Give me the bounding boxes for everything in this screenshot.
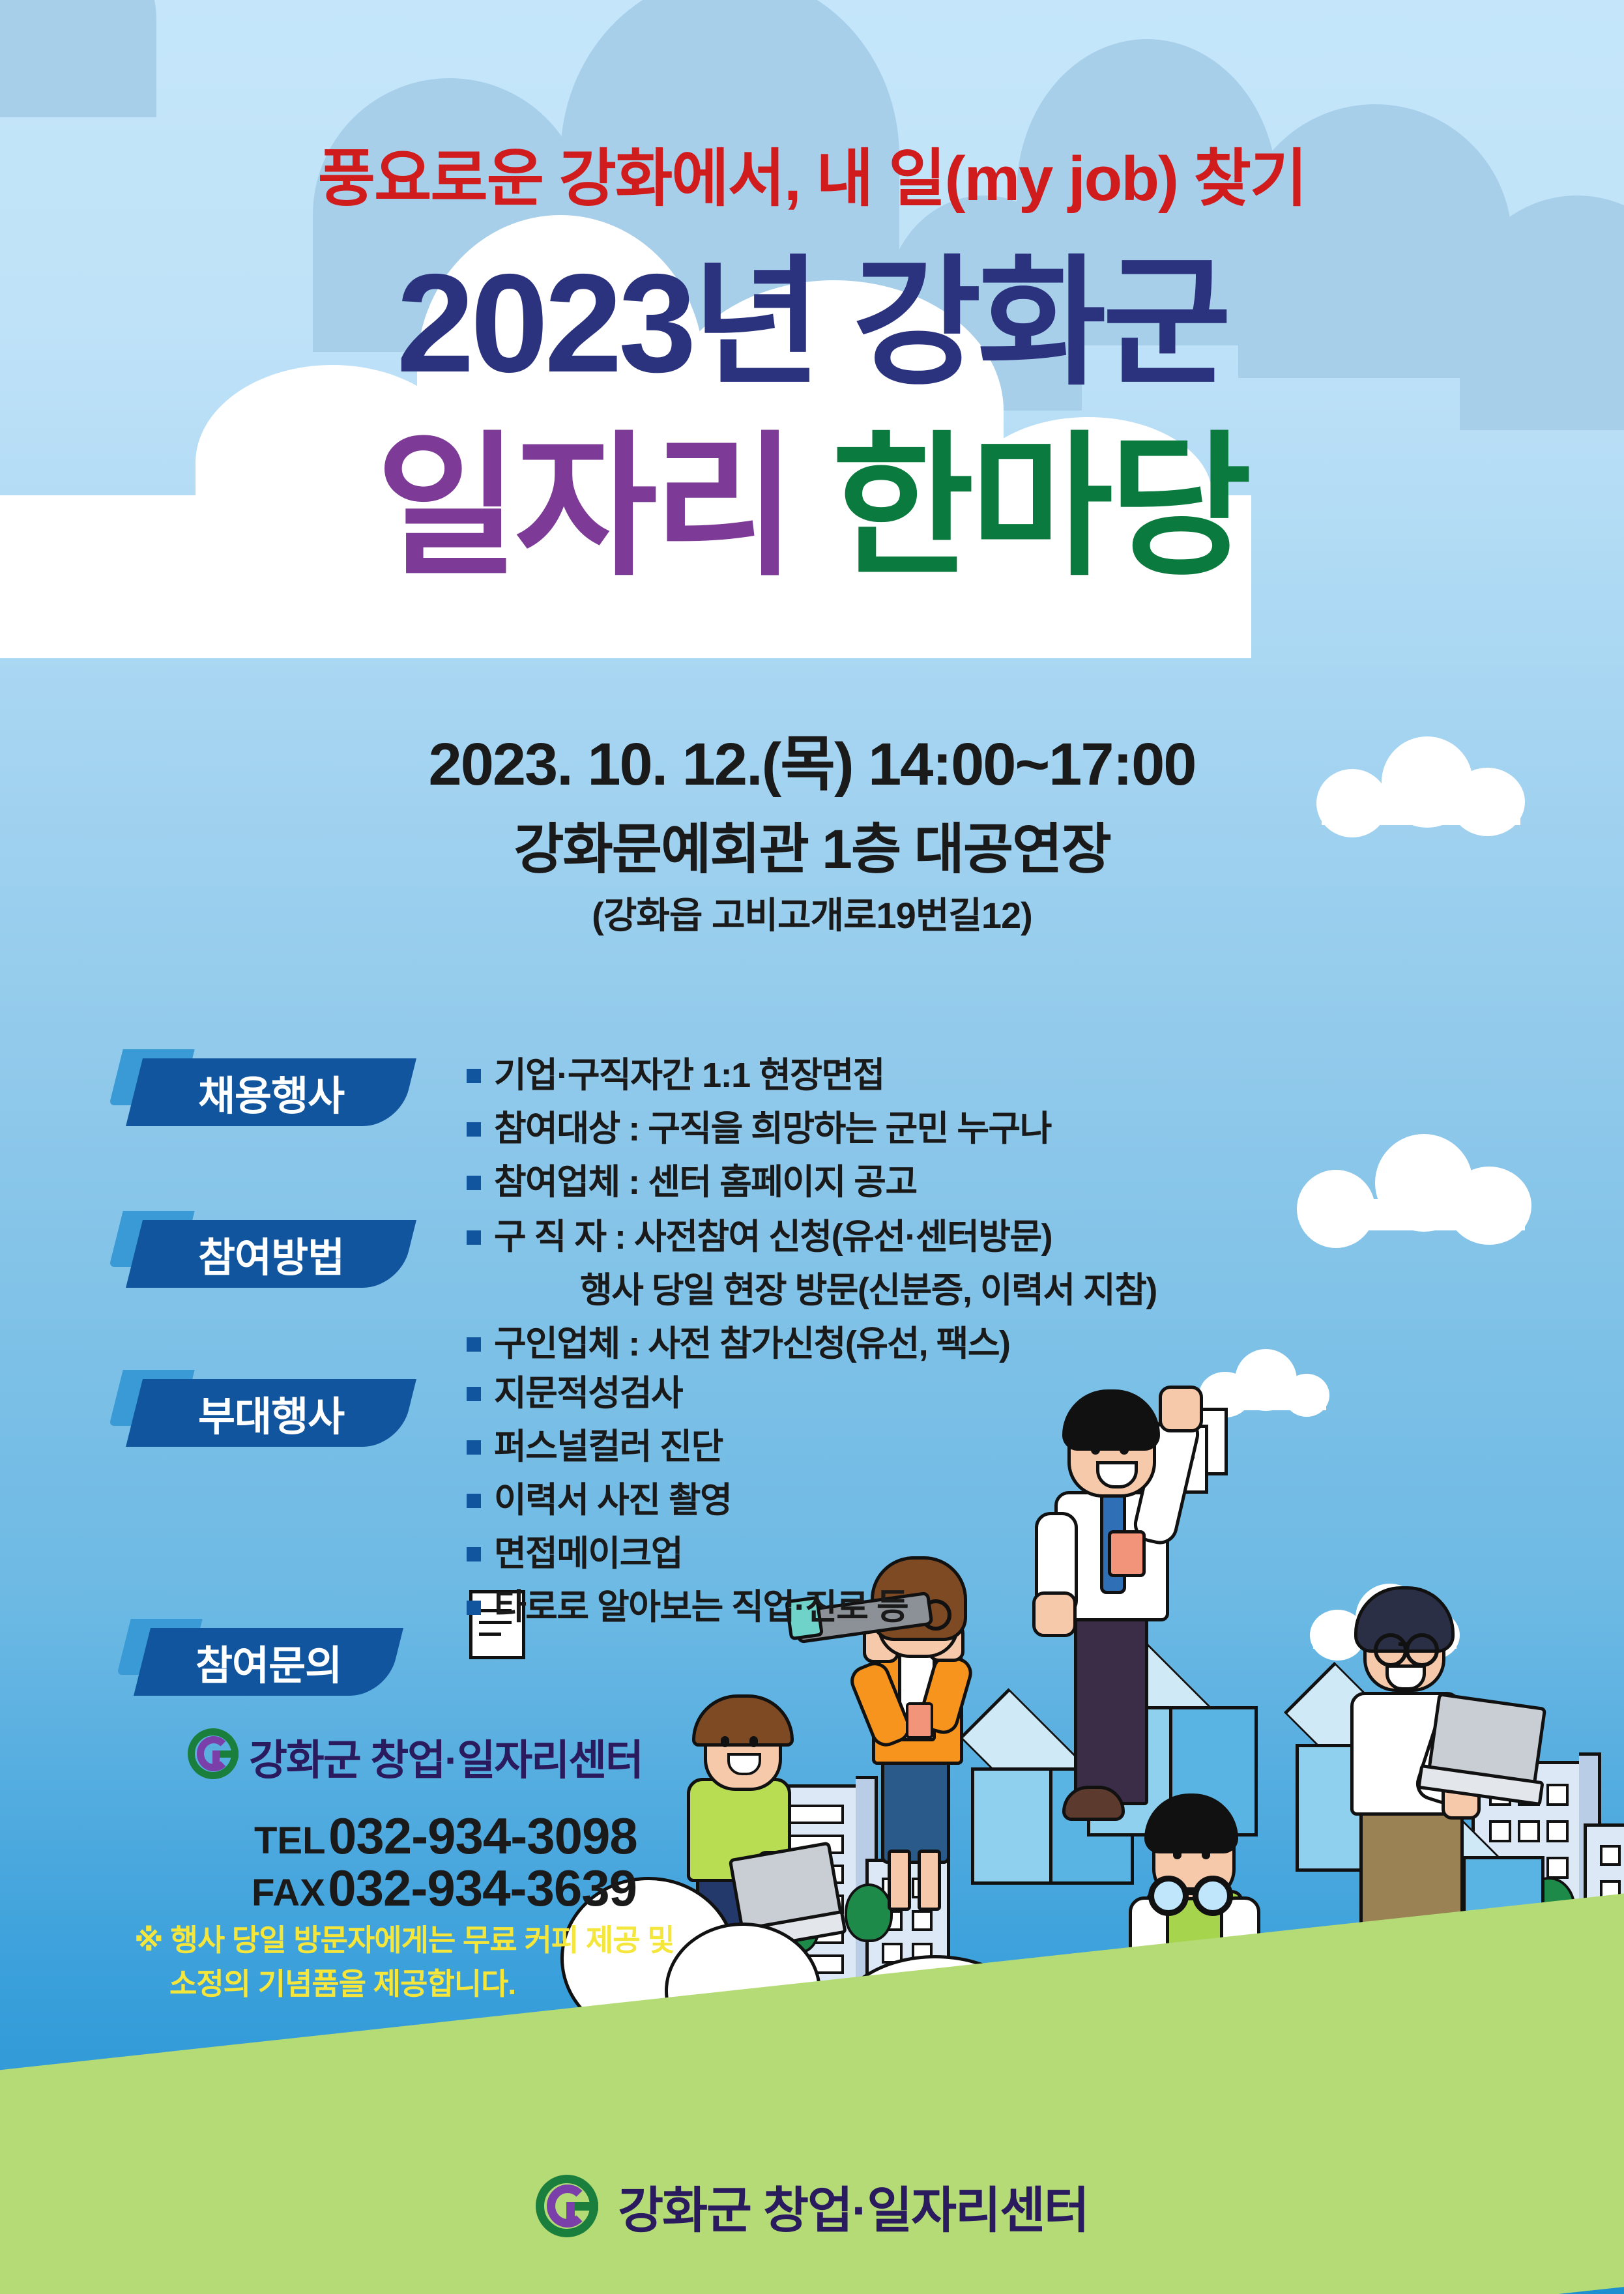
title-line-2: 일자리 한마당 [0,430,1624,585]
bullet-text: 참여업체 : 센터 홈페이지 공고 [494,1161,917,1204]
section-tag-contact: 참여문의 [124,1628,437,1700]
bullet-marker [467,1230,481,1245]
tag-box: 채용행사 [126,1058,416,1126]
section-tag-recruitment: 채용행사 [116,1058,429,1130]
note-line-1: ※ 행사 당일 방문자에게는 무료 커피 제공 및 [134,1923,674,1957]
bullet-item-continuation: 행사 당일 현장 방문(신분증, 이력서 지참) [467,1270,1157,1313]
bullet-marker [467,1601,481,1615]
sky-bump-1 [0,0,156,117]
section-bullets-participation: 구 직 자 : 사전참여 신청(유선·센터방문) 행사 당일 현장 방문(신분증… [467,1216,1157,1376]
bullet-item: 퍼스널컬러 진단 [467,1426,908,1469]
bullet-text: 이력서 사진 촬영 [494,1479,731,1522]
bullet-text: 지문적성검사 [494,1372,682,1416]
section-tag-side-events: 부대행사 [116,1379,429,1451]
bullet-item: 참여대상 : 구직을 희망하는 군민 누구나 [467,1108,1051,1151]
tagline: 풍요로운 강화에서, 내 일(my job) 찾기 [0,128,1624,218]
center-name: 강화군 창업·일자리센터 [249,1727,643,1787]
tag-box: 참여방법 [126,1220,416,1288]
bullet-item: 참여업체 : 센터 홈페이지 공고 [467,1161,1051,1204]
section-tag-label: 참여문의 [196,1633,341,1691]
bullet-text: 구 직 자 : 사전참여 신청(유선·센터방문) [494,1216,1052,1259]
bullet-text: 행사 당일 현장 방문(신분증, 이력서 지참) [494,1270,1157,1313]
logo-stem [212,1750,220,1767]
event-address: (강화읍 고비고개로19번길12) [0,886,1624,939]
title-line-1: 2023년 강화군 [0,253,1624,393]
poster-canvas: 풍요로운 강화에서, 내 일(my job) 찾기 2023년 강화군 일자리 … [0,0,1624,2294]
fax-label: FAX [252,1872,325,1914]
section-tag-label: 부대행사 [198,1384,344,1442]
bullet-text: 참여대상 : 구직을 희망하는 군민 누구나 [494,1108,1051,1151]
bullet-item: 면접메이크업 [467,1533,908,1576]
tel-number: 032-934-3098 [328,1807,637,1865]
fax-number: 032-934-3639 [328,1859,637,1917]
bullet-item: 구 직 자 : 사전참여 신청(유선·센터방문) [467,1216,1157,1259]
section-tag-label: 참여방법 [198,1225,344,1283]
bullet-item: 지문적성검사 [467,1372,908,1416]
tel-label: TEL [254,1820,326,1862]
bullet-item: 기업·구직자간 1:1 현장면접 [467,1054,1051,1097]
footer-logo-icon [536,2175,598,2237]
bullet-marker [467,1176,481,1190]
footer-bar: 강화군 창업·일자리센터 [0,2170,1624,2242]
footer-organization: 강화군 창업·일자리센터 [618,2170,1088,2242]
bullet-text: 기업·구직자간 1:1 현장면접 [494,1054,884,1097]
cloud-mid-right [1297,1134,1531,1225]
tel-line: TEL 032-934-3098 [254,1807,637,1866]
bullet-text: 구인업체 : 사전 참가신청(유선, 팩스) [494,1323,1009,1366]
logo-stem [566,2202,575,2223]
bullet-marker [467,1494,481,1508]
tag-box: 부대행사 [126,1379,416,1447]
bullet-marker [467,1387,481,1401]
section-bullets-side-events: 지문적성검사 퍼스널컬러 진단 이력서 사진 촬영 면접메이크업 타로로 알아보… [467,1372,908,1639]
tag-box: 참여문의 [134,1628,403,1696]
section-tag-label: 채용행사 [198,1063,344,1122]
bullet-item: 타로로 알아보는 직업·진로 등 [467,1586,908,1629]
bullet-marker [467,1337,481,1352]
title-word-festival: 한마당 [832,421,1248,594]
section-bullets-recruitment: 기업·구직자간 1:1 현장면접 참여대상 : 구직을 희망하는 군민 누구나 … [467,1054,1051,1215]
bullet-text: 타로로 알아보는 직업·진로 등 [494,1586,908,1629]
center-logo-icon [188,1728,239,1779]
bullet-marker [467,1440,481,1455]
bullet-marker [467,1547,481,1561]
section-tag-participation: 참여방법 [116,1220,429,1292]
event-note: ※ 행사 당일 방문자에게는 무료 커피 제공 및 소정의 기념품을 제공합니다… [134,1919,786,2005]
title-word-jobs: 일자리 [376,421,792,594]
bullet-marker [467,1069,481,1083]
bullet-item: 이력서 사진 촬영 [467,1479,908,1522]
cloud-upper-right [1316,736,1525,821]
bullet-marker [467,1122,481,1137]
fax-line: FAX 032-934-3639 [252,1859,637,1918]
bullet-text: 면접메이크업 [494,1533,682,1576]
bullet-text: 퍼스널컬러 진단 [494,1426,723,1469]
bullet-item: 구인업체 : 사전 참가신청(유선, 팩스) [467,1323,1157,1366]
